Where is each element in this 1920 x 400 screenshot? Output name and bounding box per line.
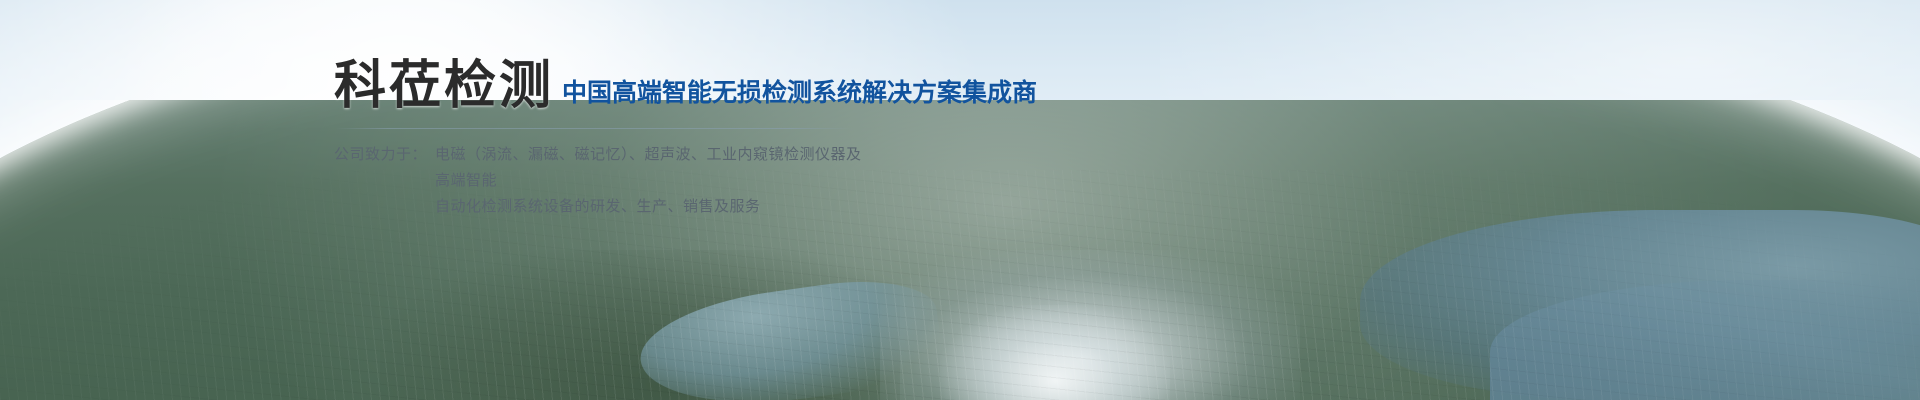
description-label: 公司致力于： — [334, 142, 435, 168]
brand-title: 科莅检测 — [334, 60, 554, 112]
banner-content: 科莅检测 中国高端智能无损检测系统解决方案集成商 公司致力于： 电磁（涡流、漏磁… — [334, 60, 1234, 220]
description-body: 电磁（涡流、漏磁、磁记忆）、超声波、工业内窥镜检测仪器及高端智能 自动化检测系统… — [435, 142, 865, 220]
description-line-2: 自动化检测系统设备的研发、生产、销售及服务 — [435, 194, 865, 220]
section-divider — [336, 128, 852, 129]
hero-banner: 科莅检测 中国高端智能无损检测系统解决方案集成商 公司致力于： 电磁（涡流、漏磁… — [0, 0, 1920, 400]
description-line-1: 电磁（涡流、漏磁、磁记忆）、超声波、工业内窥镜检测仪器及高端智能 — [435, 146, 862, 189]
brand-tagline: 中国高端智能无损检测系统解决方案集成商 — [562, 81, 1037, 106]
company-description: 公司致力于： 电磁（涡流、漏磁、磁记忆）、超声波、工业内窥镜检测仪器及高端智能 … — [334, 142, 1234, 220]
title-row: 科莅检测 中国高端智能无损检测系统解决方案集成商 — [334, 60, 1234, 112]
